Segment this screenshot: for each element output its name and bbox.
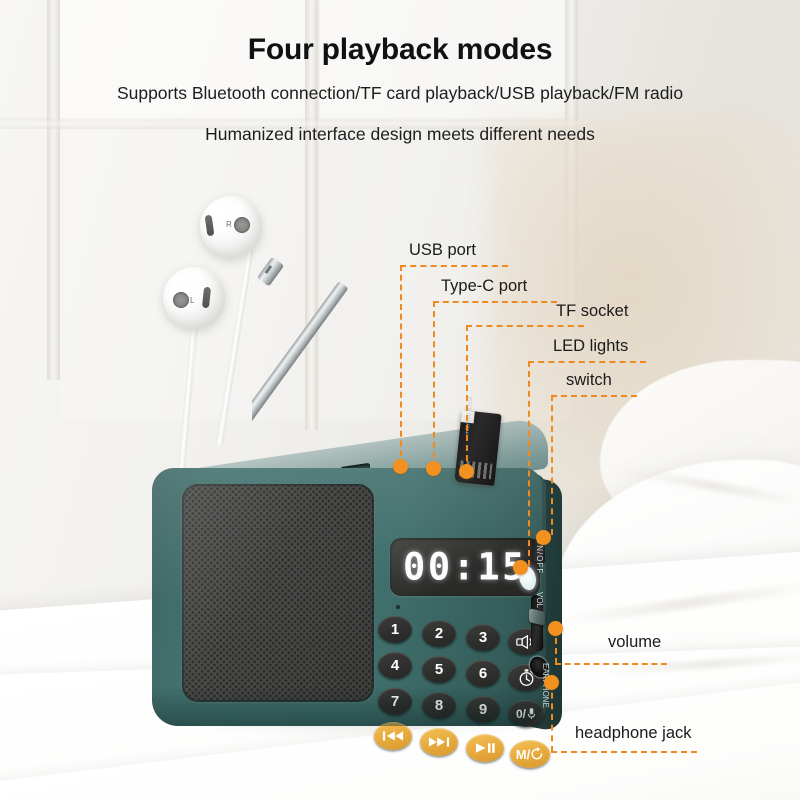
callout-dot-switch [536,530,551,545]
callout-line-type-c-port [433,301,435,468]
callout-line-tf-socket [466,325,584,327]
callout-dot-type-c-port [426,461,441,476]
callout-dot-headphone-jack [544,675,559,690]
callout-label-volume: volume [608,633,661,652]
callout-line-tf-socket [466,325,468,471]
callout-label-usb-port: USB port [409,241,476,260]
callout-line-type-c-port [433,301,557,303]
callout-label-switch: switch [566,371,612,390]
callout-label-type-c-port: Type-C port [441,277,527,296]
callout-line-switch [551,395,553,535]
callout-line-usb-port [400,265,402,466]
callout-dot-volume [548,621,563,636]
callout-label-led-lights: LED lights [553,337,628,356]
callout-line-switch [551,395,637,397]
callout-line-headphone-jack [551,682,553,752]
callout-line-volume [555,663,667,665]
callout-line-headphone-jack [551,751,697,753]
callout-annotations: USB port Type-C port TF socket LED light… [0,0,800,800]
callout-label-tf-socket: TF socket [556,302,628,321]
callout-line-led-lights [528,361,646,363]
callout-dot-usb-port [393,459,408,474]
callout-dot-tf-socket [459,464,474,479]
callout-dot-led-lights [513,560,528,575]
callout-line-led-lights [528,361,530,566]
callout-line-usb-port [400,265,508,267]
callout-label-headphone-jack: headphone jack [575,724,692,743]
